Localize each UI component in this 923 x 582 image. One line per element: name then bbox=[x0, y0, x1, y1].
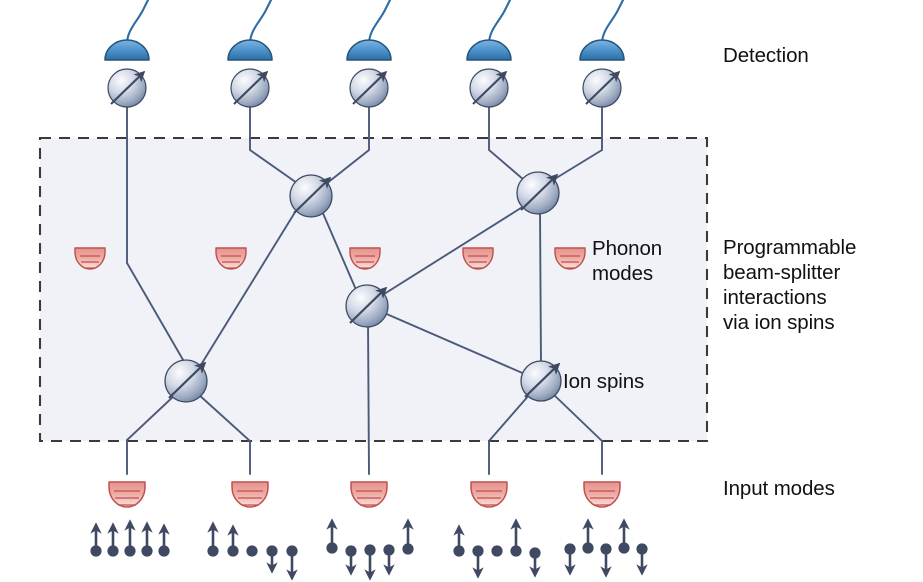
detector-icon[interactable] bbox=[467, 40, 511, 60]
edge-bsb-bse bbox=[540, 208, 541, 366]
input-mode-icon[interactable] bbox=[584, 482, 620, 507]
spin-down bbox=[383, 544, 394, 570]
spin-down bbox=[529, 547, 540, 572]
fiber-5 bbox=[602, 0, 623, 44]
diagram-canvas: Detection Programmable beam-splitter int… bbox=[0, 0, 923, 582]
ion-spin-icon[interactable] bbox=[231, 69, 269, 107]
spin-up bbox=[141, 527, 152, 557]
spin-chain bbox=[564, 524, 647, 572]
beam-splitter-node[interactable] bbox=[165, 360, 207, 402]
detector-icon[interactable] bbox=[105, 40, 149, 60]
spin-up bbox=[618, 524, 629, 554]
spin-chain bbox=[90, 525, 169, 557]
spin-up bbox=[124, 525, 135, 557]
detector-icon[interactable] bbox=[347, 40, 391, 60]
ion-spin-icon[interactable] bbox=[470, 69, 508, 107]
spin-up bbox=[227, 530, 238, 557]
spin-down bbox=[345, 545, 356, 570]
beam-splitter-node[interactable] bbox=[517, 172, 559, 214]
fiber-1 bbox=[127, 0, 148, 44]
label-input-modes: Input modes bbox=[723, 476, 835, 501]
input-mode-group bbox=[109, 482, 620, 507]
detector-group bbox=[105, 40, 624, 60]
edge-bsc-in3 bbox=[368, 321, 369, 474]
beam-splitter-node[interactable] bbox=[346, 285, 388, 327]
spin-up bbox=[326, 524, 337, 554]
beam-splitter-node[interactable] bbox=[290, 175, 332, 217]
spin-down bbox=[636, 543, 647, 570]
spin-down bbox=[286, 545, 297, 575]
detector-icon[interactable] bbox=[580, 40, 624, 60]
label-programmable-interactions: Programmable beam-splitter interactions … bbox=[723, 235, 856, 335]
input-mode-icon[interactable] bbox=[232, 482, 268, 507]
label-ion-spins: Ion spins bbox=[563, 369, 644, 394]
spin-chain bbox=[207, 527, 297, 575]
spin-up bbox=[453, 530, 464, 557]
spin-chain bbox=[326, 524, 413, 575]
spin-up bbox=[207, 527, 218, 557]
spin-down bbox=[564, 543, 575, 570]
spin-none bbox=[491, 545, 502, 556]
beam-splitter-node[interactable] bbox=[521, 361, 561, 401]
spin-chain-group bbox=[90, 524, 647, 575]
input-mode-icon[interactable] bbox=[351, 482, 387, 507]
input-mode-icon[interactable] bbox=[109, 482, 145, 507]
spin-up bbox=[107, 528, 118, 557]
spin-down bbox=[472, 545, 483, 573]
fiber-2 bbox=[250, 0, 271, 44]
ion-spin-icon[interactable] bbox=[350, 69, 388, 107]
spin-up bbox=[510, 524, 521, 557]
fiber-4 bbox=[489, 0, 510, 44]
detector-icon[interactable] bbox=[228, 40, 272, 60]
spin-up bbox=[582, 524, 593, 554]
fiber-3 bbox=[369, 0, 390, 44]
spin-chain bbox=[453, 524, 540, 573]
label-phonon-modes: Phonon modes bbox=[592, 236, 662, 286]
spin-down bbox=[364, 544, 375, 575]
ion-spin-icon[interactable] bbox=[583, 69, 621, 107]
label-detection: Detection bbox=[723, 43, 809, 68]
ion-spin-icon[interactable] bbox=[108, 69, 146, 107]
spin-up bbox=[402, 524, 413, 555]
detection-spin-group bbox=[108, 69, 621, 107]
spin-up bbox=[158, 529, 169, 557]
input-mode-icon[interactable] bbox=[471, 482, 507, 507]
spin-down bbox=[266, 545, 277, 568]
spin-down bbox=[600, 543, 611, 572]
spin-up bbox=[90, 528, 101, 557]
fiber-group bbox=[127, 0, 623, 44]
spin-none bbox=[246, 545, 257, 556]
